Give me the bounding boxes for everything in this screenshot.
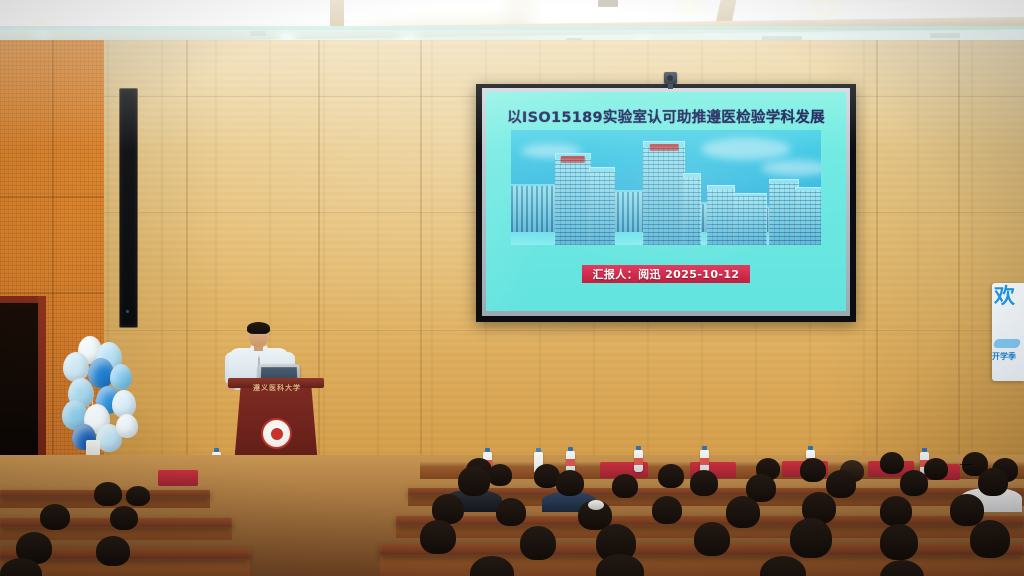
bottle-label — [634, 458, 643, 465]
presenter-glasses-icon — [250, 333, 267, 338]
wall-seam — [104, 330, 1024, 331]
audience-head — [94, 482, 122, 506]
slide-presenter-text: 汇报人：阅迅 2025-10-12 — [593, 266, 740, 282]
hair-scrunchie — [588, 500, 604, 510]
ceiling-downlight — [820, 4, 831, 11]
audience-head — [694, 522, 730, 556]
water-bottle — [634, 450, 643, 472]
ceiling-downlight — [683, 2, 694, 9]
bottle-cap — [485, 448, 490, 452]
acoustic-panel-seam — [0, 196, 104, 198]
audience-head — [790, 518, 832, 558]
audience-head — [880, 452, 904, 474]
speaker-indicator-icon — [126, 310, 129, 313]
balloon — [116, 414, 138, 438]
ceiling-beam — [330, 0, 344, 28]
ceiling-light-panel — [330, 0, 500, 14]
audience-head — [800, 458, 826, 482]
audience-head — [880, 524, 918, 560]
hospital-tower — [683, 173, 701, 245]
seat-cushion — [158, 470, 198, 486]
audience-head — [126, 486, 150, 506]
banner-line-3: 开学季 — [992, 351, 1016, 362]
audience-head — [110, 506, 138, 530]
audience-head — [496, 498, 526, 526]
audience-head — [652, 496, 682, 524]
balloon — [63, 352, 89, 382]
water-bottle — [700, 450, 709, 472]
banner-line-1: 欢 — [994, 285, 1014, 308]
audience-head — [420, 520, 456, 554]
building-sign — [650, 144, 679, 151]
bottle-cap — [922, 448, 927, 452]
audience-head — [458, 466, 490, 496]
audience-head — [970, 520, 1010, 558]
wall-seam — [958, 40, 960, 470]
audience-head — [978, 468, 1008, 496]
bottle-cap — [214, 448, 219, 452]
audience-head — [826, 470, 856, 498]
audience-head — [950, 494, 984, 526]
slide-presenter-banner: 汇报人：阅迅 2025-10-12 — [582, 265, 750, 283]
wall-seam — [876, 40, 878, 470]
slide-hospital-photo — [511, 130, 821, 245]
audience-head — [658, 464, 684, 488]
acoustic-panel-seam — [0, 292, 104, 294]
banner-swoosh-icon — [993, 339, 1021, 348]
audience-head — [690, 470, 718, 496]
bottle-label — [566, 459, 575, 466]
audience-head — [880, 496, 912, 526]
bottle-cap — [808, 446, 813, 450]
wall-speaker-icon — [119, 88, 138, 328]
cloud — [761, 160, 821, 176]
bottle-cap — [568, 447, 573, 451]
hospital-tower — [707, 185, 735, 245]
wall-seam — [420, 40, 422, 470]
acoustic-panel-seam — [52, 40, 54, 470]
audience-head — [40, 504, 70, 530]
audience-glasses-icon — [960, 464, 972, 468]
auditorium-photo: 欢 开学季 以ISO15189实验室认可助推遵医检验学科发展 — [0, 0, 1024, 576]
hospital-tower — [555, 153, 591, 245]
side-doorway[interactable] — [0, 300, 42, 465]
camera-icon — [664, 72, 677, 84]
audience-head — [612, 474, 638, 498]
ceiling-vent — [598, 0, 618, 7]
bottle-cap — [702, 446, 707, 450]
presentation-slide: 以ISO15189实验室认可助推遵医检验学科发展 — [486, 92, 846, 311]
audience-head — [520, 526, 556, 560]
podium-plaque: 遵义医科大学 — [246, 382, 308, 393]
bottle-cap — [536, 448, 541, 452]
audience-head — [556, 470, 584, 496]
wall-seam — [318, 40, 320, 470]
building-sign — [561, 156, 585, 163]
slide-title: 以ISO15189实验室认可助推遵医检验学科发展 — [486, 106, 846, 127]
hospital-tower — [795, 187, 821, 245]
university-emblem-icon — [261, 418, 292, 449]
wall-seam — [186, 40, 188, 470]
balloon — [110, 364, 132, 390]
bottle-label — [700, 458, 709, 465]
cloud — [701, 138, 791, 160]
hospital-tower — [589, 167, 615, 245]
audience-head — [96, 536, 130, 566]
bottle-cap — [636, 446, 641, 450]
audience-head — [726, 496, 760, 528]
low-building — [511, 184, 557, 232]
welcome-banner: 欢 开学季 — [992, 283, 1024, 381]
hospital-tower — [733, 193, 767, 245]
camera-mount — [668, 84, 673, 89]
audience-head — [924, 458, 948, 480]
hospital-tower — [643, 141, 685, 245]
audience-head — [488, 464, 512, 486]
door-frame — [38, 296, 46, 468]
audience-head — [900, 470, 928, 496]
